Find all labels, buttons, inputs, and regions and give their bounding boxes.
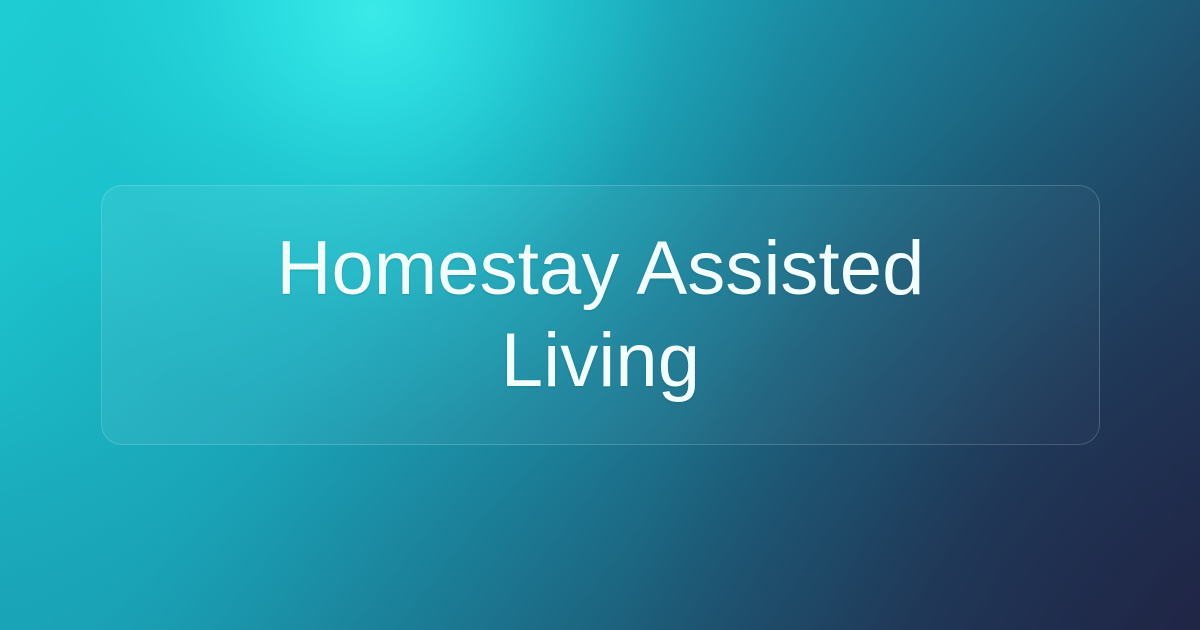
title-card: Homestay Assisted Living xyxy=(101,185,1100,445)
page-title: Homestay Assisted Living xyxy=(277,223,925,407)
og-banner: Homestay Assisted Living xyxy=(0,0,1200,630)
